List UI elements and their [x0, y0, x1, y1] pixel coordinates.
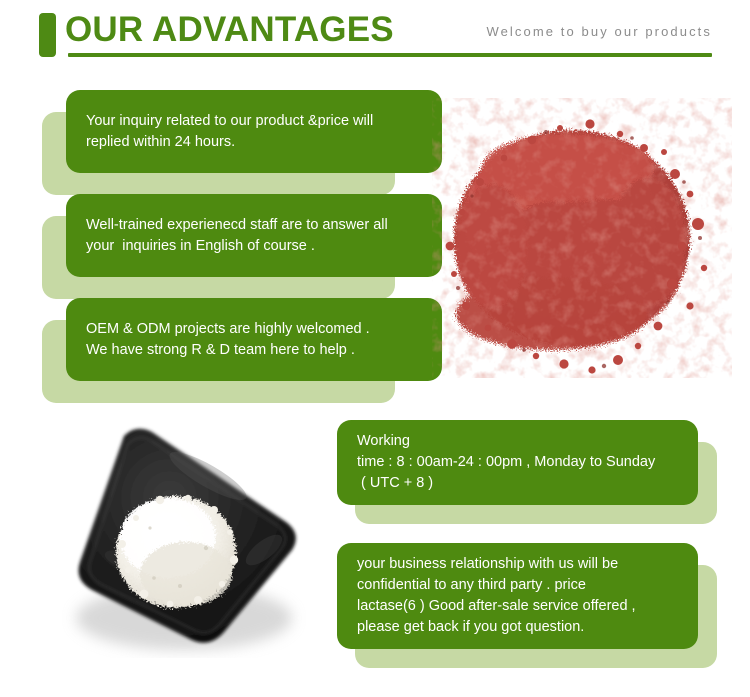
advantage-card-oem-odm: OEM & ODM projects are highly welcomed .… [42, 298, 442, 403]
card-line: OEM & ODM projects are highly welcomed . [86, 319, 422, 340]
card-line: Your inquiry related to our product &pri… [86, 111, 422, 132]
advantage-card-working-time: Working time : 8 : 00am-24 : 00pm , Mond… [337, 420, 719, 530]
card-line: ( UTC + 8 ) [357, 473, 678, 494]
card-body: Your inquiry related to our product &pri… [66, 90, 442, 173]
white-powder-dish-image [58, 418, 328, 658]
header-divider-rule [68, 53, 712, 57]
advantage-card-inquiry-response: Your inquiry related to our product &pri… [42, 90, 442, 195]
red-powder-pile-image [432, 78, 732, 398]
card-body: OEM & ODM projects are highly welcomed .… [66, 298, 442, 381]
advantage-card-confidentiality: your business relationship with us will … [337, 543, 719, 673]
card-line: your business relationship with us will … [357, 554, 678, 575]
card-body: your business relationship with us will … [337, 543, 698, 649]
card-line: time : 8 : 00am-24 : 00pm , Monday to Su… [357, 452, 678, 473]
advantages-page: OUR ADVANTAGES Welcome to buy our produc… [0, 0, 750, 697]
card-line: your inquiries in English of course . [86, 236, 422, 257]
card-line: Well-trained experienecd staff are to an… [86, 215, 422, 236]
card-line: lactase(6 ) Good after-sale service offe… [357, 596, 678, 617]
card-line: please get back if you got question. [357, 617, 678, 638]
card-body: Well-trained experienecd staff are to an… [66, 194, 442, 277]
advantage-card-trained-staff: Well-trained experienecd staff are to an… [42, 194, 442, 299]
card-line: confidential to any third party . price [357, 575, 678, 596]
header-tagline: Welcome to buy our products [486, 24, 712, 39]
title-accent-bar [39, 13, 56, 57]
card-body: Working time : 8 : 00am-24 : 00pm , Mond… [337, 420, 698, 505]
card-line: Working [357, 431, 678, 452]
page-title: OUR ADVANTAGES [65, 8, 394, 52]
card-line: We have strong R & D team here to help . [86, 340, 422, 361]
page-header: OUR ADVANTAGES Welcome to buy our produc… [0, 0, 750, 72]
card-line: replied within 24 hours. [86, 132, 422, 153]
